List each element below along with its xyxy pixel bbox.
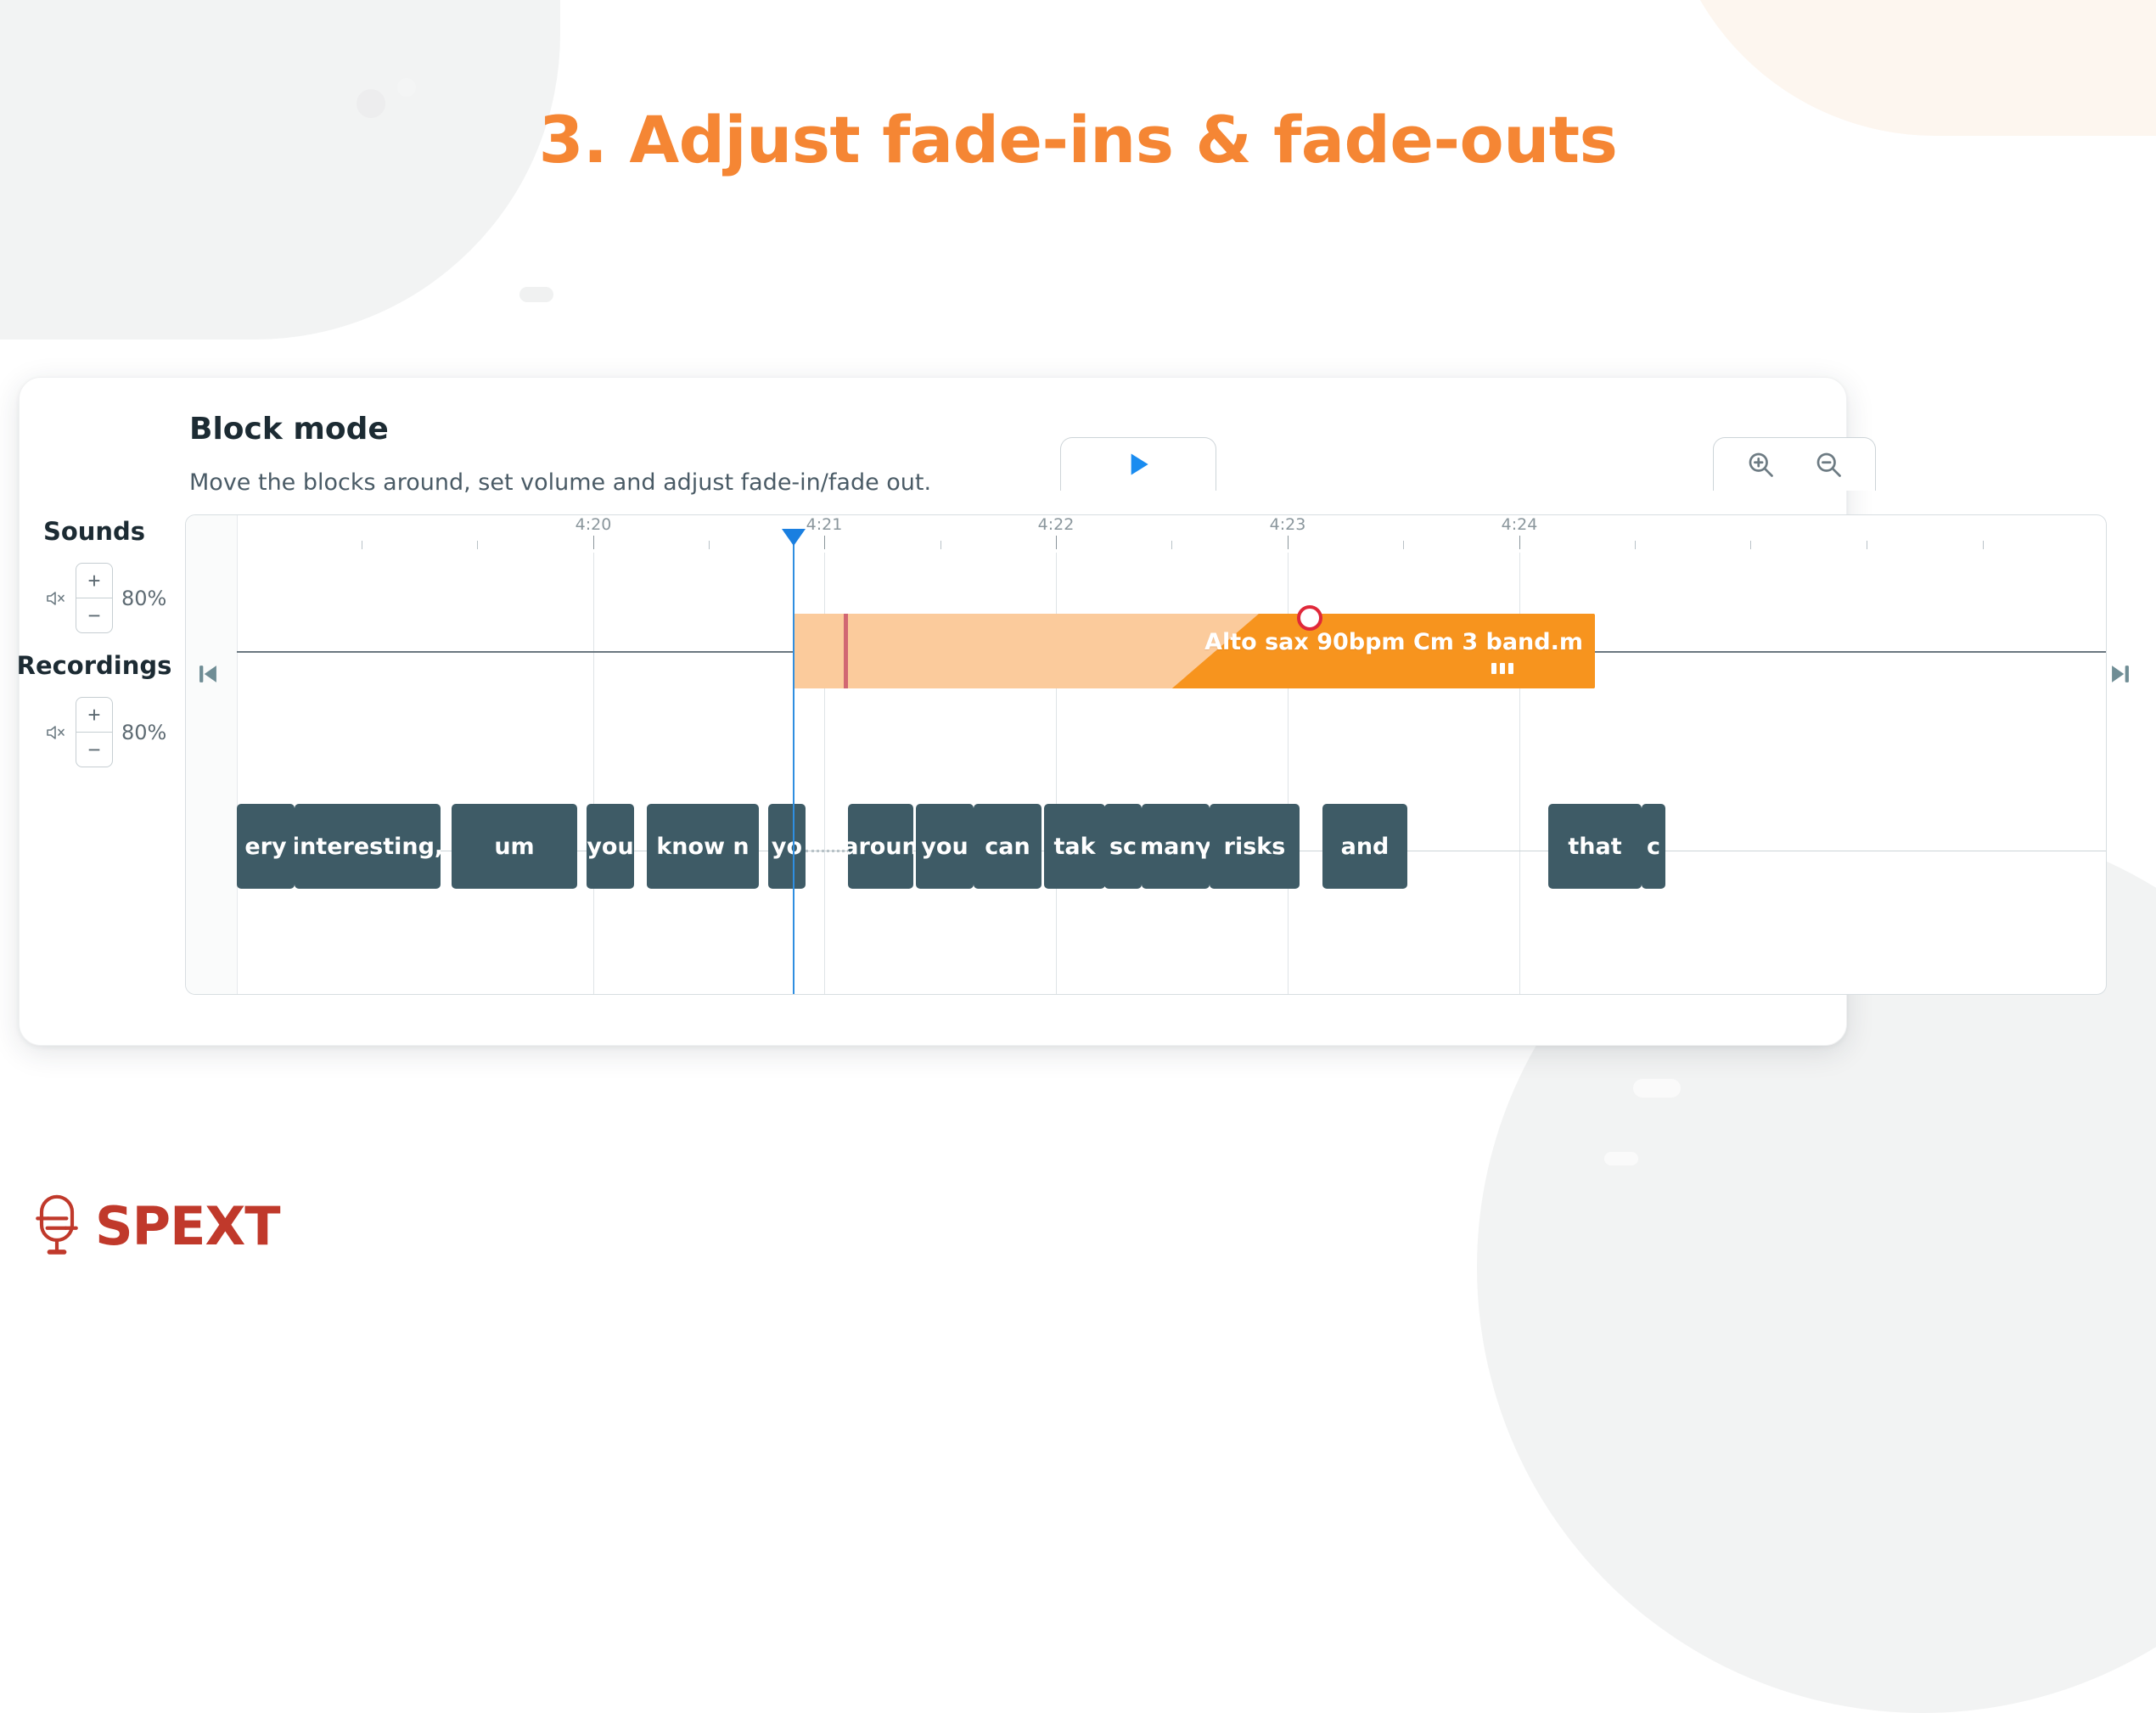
background-dot [519, 287, 553, 302]
lane-sounds[interactable]: Alto sax 90bpm Cm 3 band.m [237, 600, 2106, 702]
fade-handle[interactable] [1297, 605, 1322, 631]
timeline-tick-label: 4:24 [1502, 515, 1538, 534]
timeline-tick [1750, 541, 1751, 549]
zoom-toolbar [1713, 437, 1876, 491]
volume-stepper-recordings: + − [76, 697, 113, 767]
sound-block-label: Alto sax 90bpm Cm 3 band.m [1204, 629, 1583, 655]
card-subtitle: Move the blocks around, set volume and a… [189, 469, 931, 496]
block-left-edge-handle[interactable] [844, 614, 848, 688]
word-block[interactable]: interesting, [295, 804, 441, 889]
background-dot [1604, 1152, 1638, 1165]
timeline-ruler[interactable]: 4:204:214:224:234:24 [237, 515, 2106, 559]
word-block[interactable]: sc [1104, 804, 1142, 889]
word-block[interactable]: can [974, 804, 1042, 889]
zoom-in-icon[interactable] [1745, 449, 1776, 480]
word-block[interactable]: that [1548, 804, 1642, 889]
timeline-tick-label: 4:23 [1270, 515, 1306, 534]
track-label-sounds: Sounds [43, 517, 145, 546]
timeline-tick [709, 541, 710, 549]
timeline-tick [1171, 541, 1172, 549]
timeline-tick-label: 4:21 [806, 515, 843, 534]
brand-name: SPEXT [95, 1195, 280, 1257]
timeline-tick-label: 4:20 [575, 515, 612, 534]
word-block[interactable]: and [1322, 804, 1407, 889]
word-block[interactable]: manγ [1142, 804, 1210, 889]
volume-decrease-button-recordings[interactable]: − [76, 733, 113, 767]
word-block[interactable]: ery [237, 804, 295, 889]
skip-to-start-icon[interactable] [194, 657, 222, 691]
timeline-tick-major [593, 536, 594, 549]
page-title: 3. Adjust fade-ins & fade-outs [0, 102, 2156, 177]
timeline-tick [1867, 541, 1867, 549]
volume-value-sounds: 80% [121, 587, 166, 610]
word-block[interactable]: yo [768, 804, 806, 889]
timeline-tick-major [824, 536, 825, 549]
word-block[interactable]: know n [647, 804, 759, 889]
play-icon[interactable] [1121, 447, 1155, 481]
zoom-out-icon[interactable] [1813, 449, 1844, 480]
volume-stepper-sounds: + − [76, 563, 113, 633]
skip-to-end-icon[interactable] [2106, 657, 2135, 691]
microphone-icon [32, 1193, 81, 1259]
playhead[interactable] [793, 541, 794, 994]
timeline-tick [362, 541, 362, 549]
timeline-tick [940, 541, 941, 549]
speaker-muted-icon[interactable] [45, 588, 67, 609]
playhead-handle-icon[interactable] [782, 529, 806, 546]
volume-decrease-button-sounds[interactable]: − [76, 598, 113, 633]
timeline-gutter [186, 515, 238, 994]
volume-control-recordings: + − 80% [45, 697, 166, 767]
background-dot [397, 78, 416, 97]
timeline-editor[interactable]: 4:204:214:224:234:24 Alto sax 90bpm Cm 3… [185, 514, 2107, 995]
volume-increase-button-recordings[interactable]: + [76, 697, 113, 733]
speaker-muted-icon[interactable] [45, 722, 67, 743]
timeline-tick [477, 541, 478, 549]
timeline-tick [1983, 541, 1984, 549]
word-block[interactable]: you [587, 804, 634, 889]
timeline-tick [1403, 541, 1404, 549]
word-block[interactable]: um [452, 804, 577, 889]
word-block[interactable]: risks [1210, 804, 1300, 889]
lane-recordings[interactable]: eryinteresting,umyouknow nyoarounyoucant… [237, 795, 2106, 906]
card-title: Block mode [189, 412, 389, 447]
sound-block-alto-sax[interactable]: Alto sax 90bpm Cm 3 band.m [793, 614, 1595, 688]
word-block[interactable]: tak [1044, 804, 1105, 889]
timeline-tick-major [1519, 536, 1520, 549]
word-block[interactable]: c [1642, 804, 1665, 889]
drag-grip-icon[interactable] [1491, 663, 1513, 674]
brand-logo: SPEXT [32, 1193, 280, 1259]
volume-increase-button-sounds[interactable]: + [76, 563, 113, 598]
track-label-recordings: Recordings [17, 651, 172, 680]
background-dot [1633, 1079, 1681, 1098]
timeline-tick [1635, 541, 1636, 549]
timeline-tick-major [1288, 536, 1289, 549]
timeline-tick-label: 4:22 [1038, 515, 1075, 534]
volume-value-recordings: 80% [121, 721, 166, 744]
word-block[interactable]: you [916, 804, 974, 889]
playback-toolbar [1060, 437, 1216, 491]
timeline-tick-major [1056, 536, 1057, 549]
word-block[interactable]: aroun [848, 804, 913, 889]
volume-control-sounds: + − 80% [45, 563, 166, 633]
word-gap-connector [806, 850, 850, 854]
